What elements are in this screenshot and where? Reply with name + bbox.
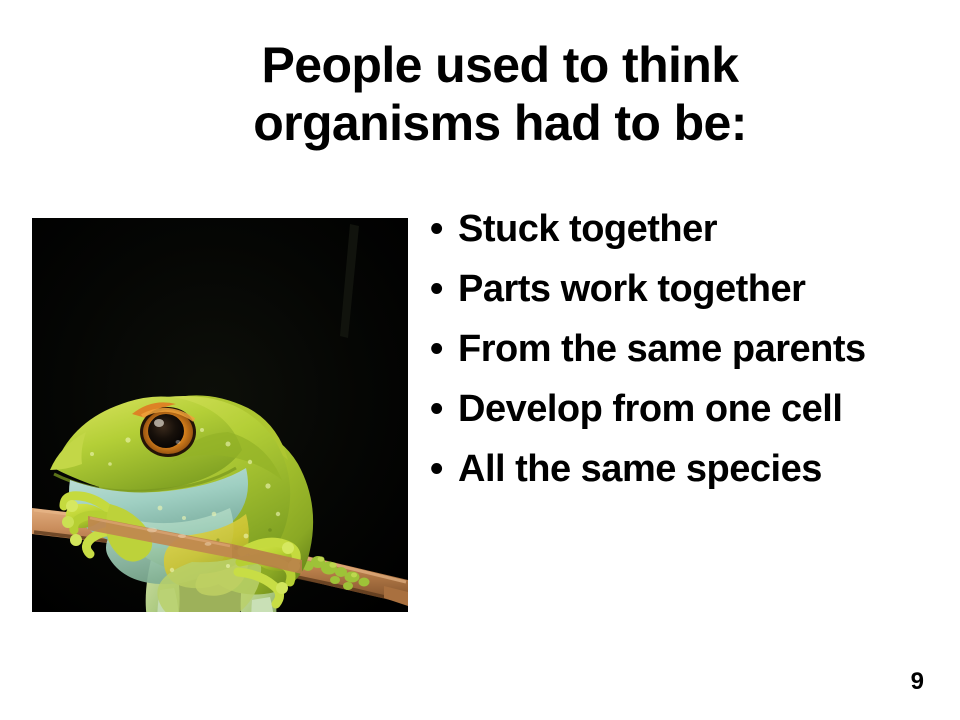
bullet-list: • Stuck together • Parts work together •… bbox=[430, 206, 960, 505]
page-number: 9 bbox=[911, 668, 924, 696]
bullet-marker-icon: • bbox=[430, 206, 458, 254]
slide-canvas: People used to think organisms had to be… bbox=[0, 0, 960, 720]
bullet-marker-icon: • bbox=[430, 386, 458, 434]
bullet-marker-icon: • bbox=[430, 266, 458, 314]
bullet-text: Develop from one cell bbox=[458, 386, 960, 434]
bullet-item: • Stuck together bbox=[430, 206, 960, 254]
bullet-text: Stuck together bbox=[458, 206, 960, 254]
slide-title: People used to think organisms had to be… bbox=[120, 36, 880, 152]
bullet-item: • All the same species bbox=[430, 446, 960, 494]
bullet-text: From the same parents bbox=[458, 326, 960, 374]
frog-photo bbox=[32, 218, 408, 612]
bullet-item: • Develop from one cell bbox=[430, 386, 960, 434]
bullet-text: Parts work together bbox=[458, 266, 960, 314]
frog-illustration bbox=[32, 218, 408, 612]
bullet-marker-icon: • bbox=[430, 326, 458, 374]
bullet-text: All the same species bbox=[458, 446, 960, 494]
bullet-marker-icon: • bbox=[430, 446, 458, 494]
bullet-item: • From the same parents bbox=[430, 326, 960, 374]
bullet-item: • Parts work together bbox=[430, 266, 960, 314]
